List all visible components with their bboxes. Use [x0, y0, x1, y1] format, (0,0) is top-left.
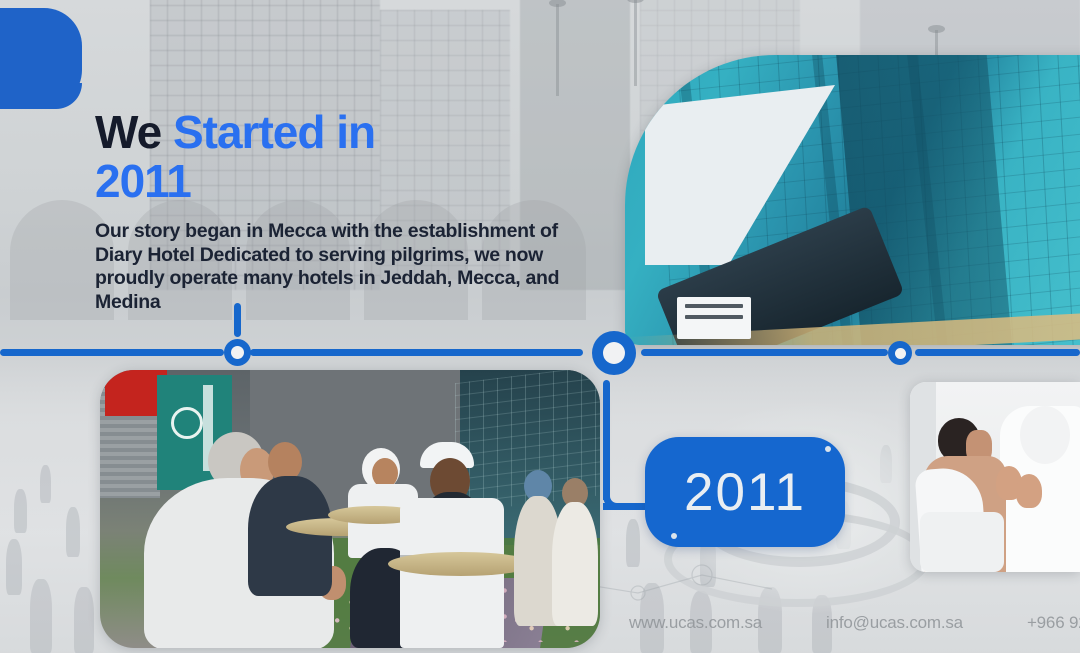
photo-welcome-ceremony: [100, 370, 600, 648]
timeline-segment-right: [641, 349, 888, 356]
background-lamp-post: [556, 4, 559, 96]
banner-logo-icon: [171, 407, 203, 439]
prayer-ihram-cloth: [920, 512, 1004, 572]
milestone-badge-2011[interactable]: 2011: [645, 437, 845, 547]
building-signage: [677, 297, 751, 339]
prayer-second-pilgrim-head: [1020, 406, 1070, 464]
decorative-blue-block: [0, 8, 82, 108]
photo-hotel-building: [625, 55, 1080, 345]
timeline-segment-left: [0, 349, 224, 356]
background-figure: [552, 502, 598, 626]
headline-group: We Started in2011 Our story began in Mec…: [95, 108, 615, 314]
title-word-started-in: Started in: [173, 106, 375, 158]
flower-tray: [388, 552, 534, 576]
photo-pilgrims-praying: [910, 382, 1080, 572]
footer-email[interactable]: info@ucas.com.sa: [826, 613, 963, 637]
prayer-hand: [1016, 474, 1042, 508]
footer-contact-bar: www.ucas.com.sa info@ucas.com.sa +966 92…: [0, 613, 1080, 637]
slide-canvas: We Started in2011 Our story began in Mec…: [0, 0, 1080, 653]
title-word-we: We: [95, 106, 173, 158]
timeline-node-left[interactable]: [224, 339, 251, 366]
background-lamp-post: [634, 0, 637, 86]
badge-year-label: 2011: [684, 466, 806, 519]
timeline-stem-left: [234, 303, 241, 337]
body-paragraph: Our story began in Mecca with the establ…: [95, 220, 575, 314]
badge-dot: [671, 533, 677, 539]
footer-phone[interactable]: +966 9200: [1027, 613, 1080, 637]
title-year: 2011: [95, 155, 191, 207]
timeline-node-center[interactable]: [592, 331, 636, 375]
badge-dot: [825, 446, 831, 452]
timeline-node-right[interactable]: [888, 341, 912, 365]
staff-body: [248, 476, 332, 596]
timeline-segment-mid: [250, 349, 583, 356]
timeline-segment-far-right: [915, 349, 1080, 356]
footer-website[interactable]: www.ucas.com.sa: [629, 613, 762, 637]
page-title: We Started in2011: [95, 108, 615, 206]
